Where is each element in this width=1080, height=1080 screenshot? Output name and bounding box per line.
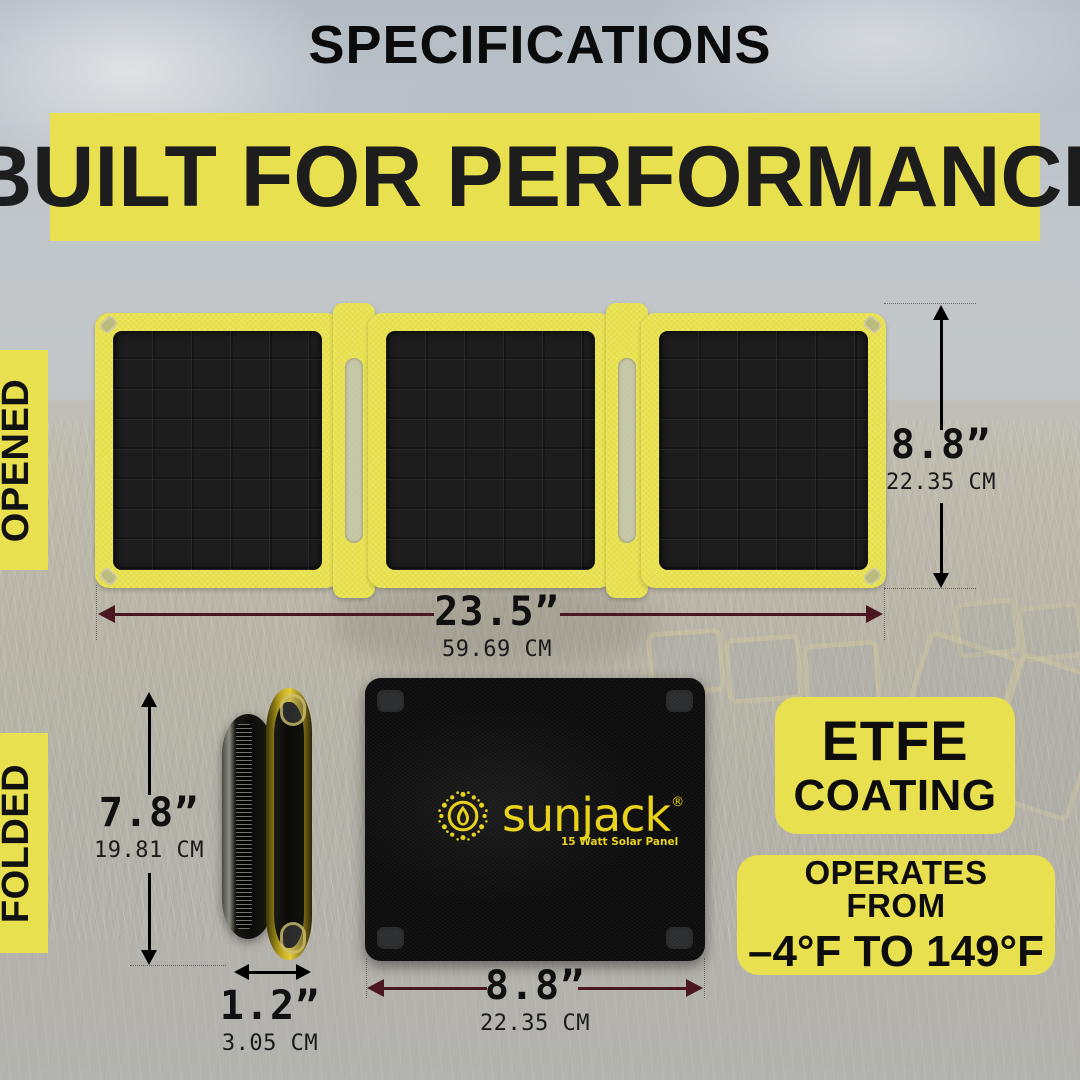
- dimension-label-opened-width: 23.5” 59.69 CM: [422, 592, 572, 661]
- section-tab-opened-label: OPENED: [0, 378, 39, 541]
- dimension-line-opened-width-right: [560, 613, 866, 616]
- dimension-value-inches: 8.8”: [460, 966, 610, 1006]
- dimension-value-inches: 7.8”: [76, 793, 222, 833]
- dimension-line-folded-height-lower: [148, 873, 150, 950]
- solar-cell-grid-2: [386, 331, 595, 570]
- feature-badge-line-1: OPERATES FROM: [751, 856, 1041, 922]
- page-eyebrow-title: SPECIFICATIONS: [0, 18, 1080, 72]
- dimension-line-folded-height-upper: [148, 705, 150, 795]
- dimension-label-folded-thickness: 1.2” 3.05 CM: [197, 986, 343, 1055]
- case-dark-face: [274, 702, 304, 948]
- arrowhead-right: [866, 605, 883, 623]
- dimension-line-opened-height-lower: [940, 503, 942, 573]
- section-tab-folded-label: FOLDED: [0, 763, 39, 922]
- folded-panel-side-view: [222, 688, 322, 963]
- dimension-value-inches: 1.2”: [197, 986, 343, 1026]
- product-tagline: 15 Watt Solar Panel: [561, 838, 678, 847]
- solar-cell-grid-1: [113, 331, 322, 570]
- background-ghost-panel-far-right: [955, 600, 1080, 680]
- dimension-value-cm: 3.05 CM: [197, 1033, 343, 1055]
- dimension-value-cm: 22.35 CM: [866, 472, 1016, 494]
- dimension-extension-line-left: [96, 585, 97, 640]
- brand-name: sunjack: [502, 788, 670, 842]
- dimension-value-cm: 22.35 CM: [460, 1013, 610, 1035]
- page-banner: BUILT FOR PERFORMANCE: [50, 113, 1040, 241]
- feature-badge-line-1: ETFE: [821, 713, 968, 769]
- dimension-line-opened-width-left: [114, 613, 434, 616]
- dimension-value-inches: 23.5”: [422, 592, 572, 632]
- section-tab-folded: FOLDED: [0, 733, 48, 953]
- arrowhead-right: [296, 964, 311, 980]
- feature-badge-line-2: COATING: [793, 774, 996, 818]
- product-logo: sunjack ® 15 Watt Solar Panel: [433, 786, 670, 846]
- dimension-extension-line-right: [704, 958, 705, 998]
- dimension-line-opened-height-upper: [940, 318, 942, 430]
- hinge-slot: [345, 358, 363, 543]
- arrowhead-left: [234, 964, 249, 980]
- dimension-value-cm: 59.69 CM: [422, 639, 572, 661]
- grommet-loop: [377, 690, 404, 712]
- grommet-loop: [666, 927, 693, 949]
- page-banner-text: BUILT FOR PERFORMANCE: [0, 134, 1080, 220]
- grommet-loop: [280, 922, 306, 954]
- arrowhead-right: [686, 979, 703, 997]
- dimension-extension-line-bottom: [130, 965, 226, 966]
- folded-panel-front-view: sunjack ® 15 Watt Solar Panel: [365, 678, 705, 961]
- solar-panel-leaf-3: [641, 313, 886, 588]
- dimension-extension-line-top: [884, 303, 976, 304]
- hinge-slot: [618, 358, 636, 543]
- dimension-extension-line-bottom: [884, 588, 976, 589]
- dimension-label-folded-width: 8.8” 22.35 CM: [460, 966, 610, 1035]
- specifications-infographic: SPECIFICATIONS BUILT FOR PERFORMANCE OPE…: [0, 0, 1080, 1080]
- arrowhead-down: [933, 573, 949, 588]
- arrowhead-left: [367, 979, 384, 997]
- case-zipper: [236, 724, 252, 929]
- sunjack-sun-flame-icon: [433, 786, 493, 846]
- solar-panel-leaf-1: [95, 313, 340, 588]
- feature-badge-etfe-coating: ETFE COATING: [775, 697, 1015, 834]
- dimension-line-folded-thickness: [249, 971, 297, 973]
- section-tab-opened: OPENED: [0, 350, 48, 570]
- grommet-loop: [377, 927, 404, 949]
- arrowhead-down: [141, 950, 157, 965]
- dimension-label-folded-height: 7.8” 19.81 CM: [76, 793, 222, 862]
- brand-wordmark: sunjack ® 15 Watt Solar Panel: [502, 795, 670, 836]
- solar-cell-grid-3: [659, 331, 868, 570]
- dimension-value-inches: 8.8”: [866, 425, 1016, 465]
- registered-trademark-symbol: ®: [671, 797, 683, 809]
- dimension-label-opened-height: 8.8” 22.35 CM: [866, 425, 1016, 494]
- grommet-loop: [280, 694, 306, 726]
- solar-panel-leaf-2: [368, 313, 613, 588]
- grommet-loop: [666, 690, 693, 712]
- dimension-value-cm: 19.81 CM: [76, 840, 222, 862]
- dimension-extension-line-right: [884, 585, 885, 640]
- feature-badge-line-2: –4°F TO 149°F: [748, 930, 1044, 974]
- feature-badge-operating-temperature: OPERATES FROM –4°F TO 149°F: [737, 855, 1055, 975]
- arrowhead-left: [98, 605, 115, 623]
